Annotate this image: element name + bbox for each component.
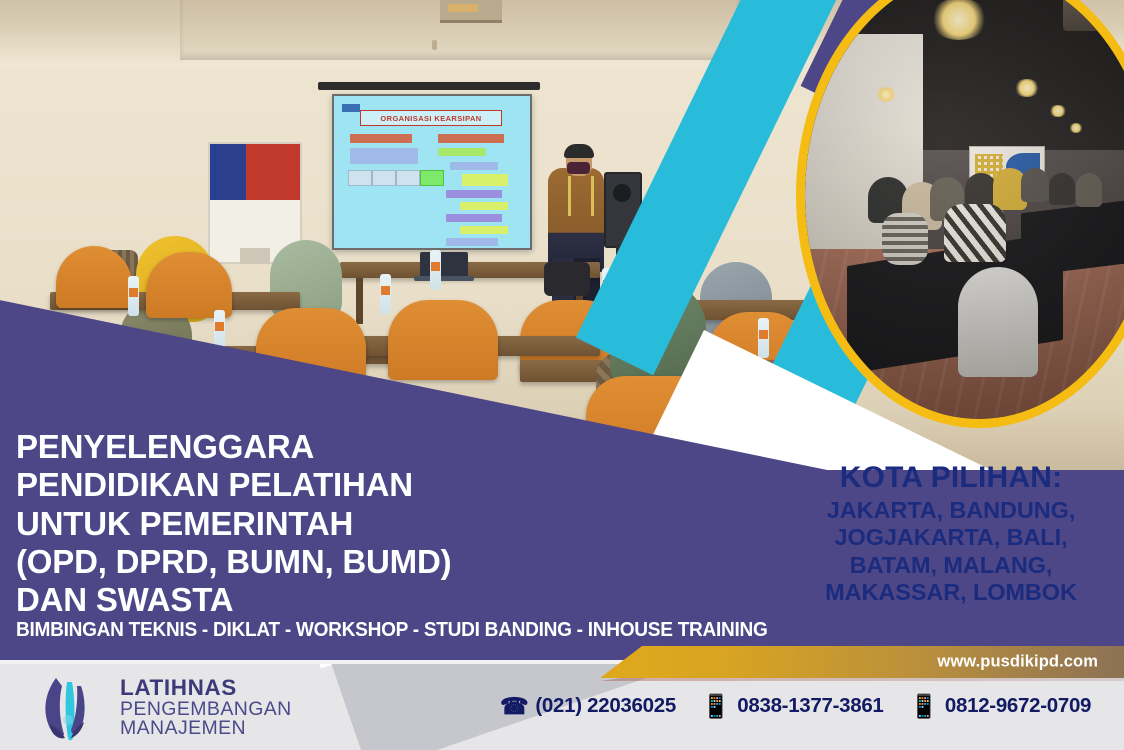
banner-red-block (246, 144, 300, 200)
contact-number-2: 0838-1377-3861 (737, 694, 883, 718)
slide-node (460, 202, 508, 210)
logo-wordmark: LATIHNAS PENGEMBANGAN MANAJEMEN (120, 677, 292, 740)
ceiling-sprinkler (432, 40, 437, 50)
banner-stand (240, 248, 270, 264)
slide-logo (342, 104, 360, 112)
contact-number-1: (021) 22036025 (535, 694, 676, 718)
presenter-lanyard (568, 176, 594, 216)
contact-mobile-2[interactable]: 📱 0812-9672-0709 (910, 694, 1092, 718)
chair (388, 300, 498, 380)
water-bottle (758, 318, 769, 358)
presenter-hair (564, 144, 594, 158)
services-subline: BIMBINGAN TEKNIS - DIKLAT - WORKSHOP - S… (16, 618, 768, 642)
table-leg (356, 278, 363, 324)
mobile-phone-icon: 📱 (702, 695, 730, 718)
slide-node (420, 170, 444, 186)
circular-seminar-photo (796, 0, 1124, 428)
headline-line-4: (OPD, DPRD, BUMN, BUMD) (16, 543, 636, 581)
laptop (420, 252, 468, 278)
flame-leaf-icon (34, 672, 106, 744)
slide-header-left (350, 134, 412, 143)
slide-node (396, 170, 420, 186)
projector-screen: ORGANISASI KEARSIPAN (332, 94, 532, 250)
headline-line-5: DAN SWASTA (16, 581, 636, 619)
banner-blue-block (210, 144, 246, 200)
logo-line-3: MANAJEMEN (120, 719, 292, 739)
slide-node (450, 162, 498, 170)
slide-title: ORGANISASI KEARSIPAN (360, 110, 502, 126)
headline-line-2: PENDIDIKAN PELATIHAN (16, 466, 636, 504)
headline-line-3: UNTUK PEMERINTAH (16, 505, 636, 543)
slide-node (460, 248, 510, 250)
contact-list: ☎ (021) 22036025 📱 0838-1377-3861 📱 0812… (500, 694, 1091, 718)
cities-list: JAKARTA, BANDUNG, JOGJAKARTA, BALI, BATA… (796, 497, 1106, 607)
cities-line-1: JAKARTA, BANDUNG, (796, 497, 1106, 524)
cities-line-2: JOGJAKARTA, BALI, (796, 524, 1106, 551)
backpack (544, 262, 590, 296)
presenter-face-mask (567, 162, 590, 174)
ceiling-projector-box (440, 0, 502, 23)
slide-node (372, 170, 396, 186)
water-bottle (128, 276, 139, 316)
cities-line-4: MAKASSAR, LOMBOK (796, 579, 1106, 606)
slide-node (348, 170, 372, 186)
slide-node (438, 148, 486, 156)
slide-node (446, 214, 502, 222)
slide-header-right (438, 134, 504, 143)
chair (146, 252, 232, 318)
company-logo[interactable]: LATIHNAS PENGEMBANGAN MANAJEMEN (34, 672, 292, 744)
headline: PENYELENGGARA PENDIDIKAN PELATIHAN UNTUK… (16, 428, 636, 619)
mobile-phone-icon: 📱 (910, 695, 938, 718)
website-url[interactable]: www.pusdikipd.com (937, 653, 1098, 672)
projector-screen-frame (318, 82, 540, 90)
slide-node (460, 226, 508, 234)
poster-canvas: ORGANISASI KEARSIPAN (0, 0, 1124, 750)
slide-node (350, 148, 418, 164)
telephone-icon: ☎ (500, 695, 528, 718)
website-gold-bar: www.pusdikipd.com (600, 646, 1124, 678)
water-bottle (430, 250, 441, 290)
contact-mobile-1[interactable]: 📱 0838-1377-3861 (702, 694, 884, 718)
contact-number-3: 0812-9672-0709 (945, 694, 1091, 718)
slide-node (446, 238, 498, 246)
contact-office-phone[interactable]: ☎ (021) 22036025 (500, 694, 676, 718)
circle-photo-inner (805, 0, 1124, 419)
headline-line-1: PENYELENGGARA (16, 428, 636, 466)
water-bottle (380, 274, 391, 314)
logo-line-1: LATIHNAS (120, 677, 292, 700)
cities-block: KOTA PILIHAN: JAKARTA, BANDUNG, JOGJAKAR… (796, 462, 1106, 607)
cities-title: KOTA PILIHAN: (796, 462, 1106, 494)
cities-line-3: BATAM, MALANG, (796, 552, 1106, 579)
slide-node (446, 190, 502, 198)
slide-node (462, 174, 508, 186)
